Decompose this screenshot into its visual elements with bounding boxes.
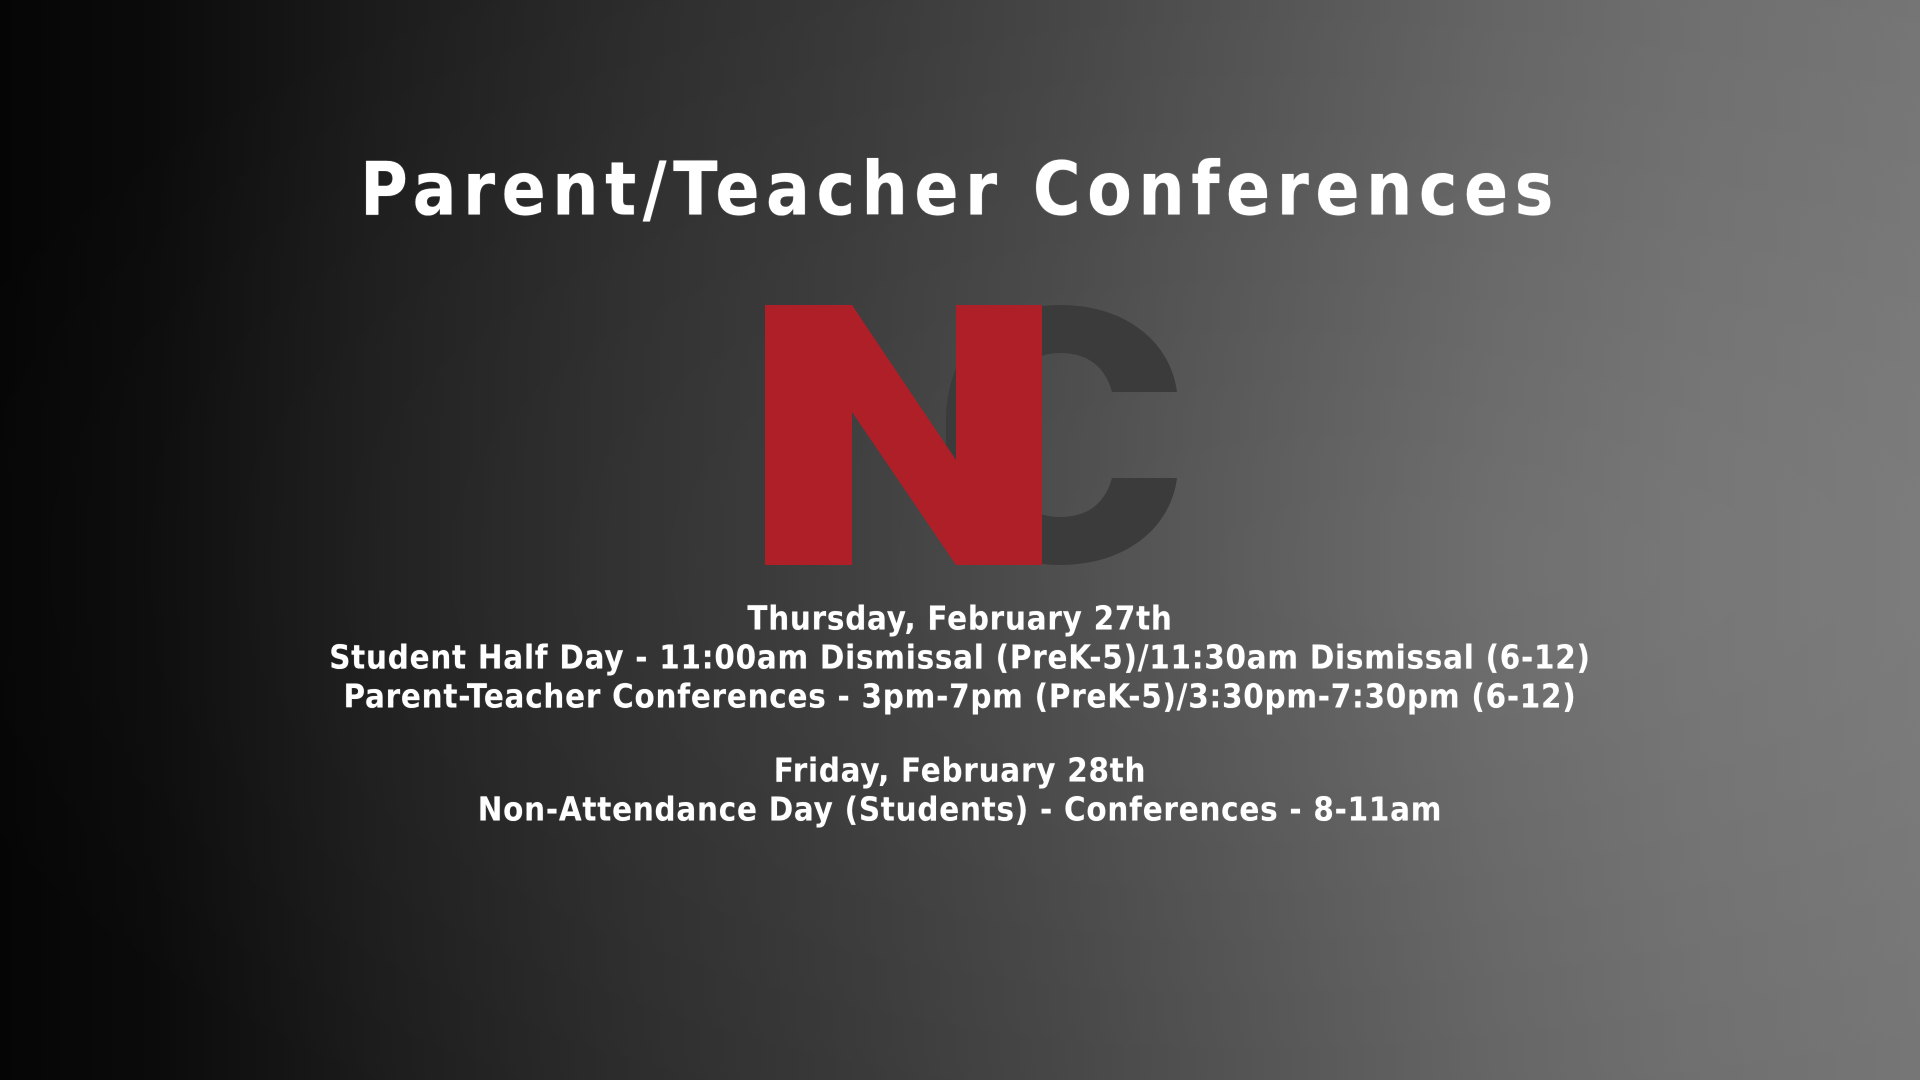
- schedule-friday-nonattendance: Non-Attendance Day (Students) - Conferen…: [48, 790, 1872, 831]
- page-title: Parent/Teacher Conferences: [67, 148, 1853, 231]
- schedule-thursday-halfday: Student Half Day - 11:00am Dismissal (Pr…: [48, 638, 1872, 679]
- schedule-friday-date: Friday, February 28th: [48, 751, 1872, 792]
- logo-letter-n-shape: [765, 305, 1042, 565]
- schedule-thursday-date: Thursday, February 27th: [48, 599, 1872, 640]
- slide-canvas: Parent/Teacher Conferences Thursday, Feb…: [0, 0, 1920, 1080]
- schedule-thursday-conferences: Parent-Teacher Conferences - 3pm-7pm (Pr…: [48, 677, 1872, 718]
- schedule-block-thursday: Thursday, February 27th Student Half Day…: [0, 600, 1920, 717]
- schedule-block-friday: Friday, February 28th Non-Attendance Day…: [0, 752, 1920, 830]
- nc-logo: [760, 300, 1180, 570]
- nc-logo-icon: [760, 300, 1180, 570]
